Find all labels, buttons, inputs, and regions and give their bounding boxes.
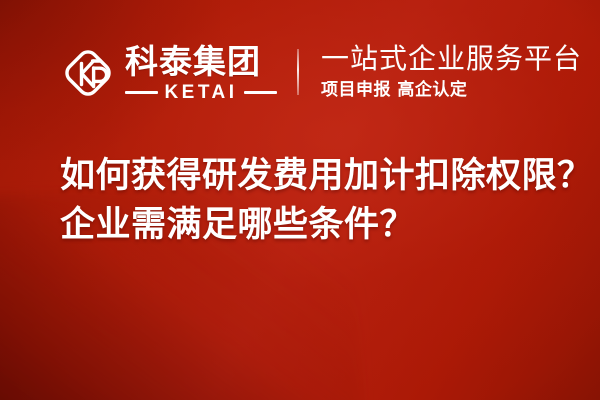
tagline-secondary: 项目申报 高企认定 [321,79,582,101]
headline-line-1: 如何获得研发费用加计扣除权限？ [60,152,570,201]
promo-banner: 科泰集团 KETAI 一站式企业服务平台 项目申报 高企认定 如何获得研发费用加… [0,0,600,400]
brand-name-en-row: KETAI [125,83,277,102]
brand-header: 科泰集团 KETAI 一站式企业服务平台 项目申报 高企认定 [0,34,600,110]
tagline-block: 一站式企业服务平台 项目申报 高企认定 [321,43,582,101]
brand-name-en: KETAI [164,83,237,102]
wordmark-dash-left [125,91,158,94]
tagline-primary: 一站式企业服务平台 [321,43,582,75]
header-divider [297,49,299,95]
brand-wordmark: 科泰集团 KETAI [125,44,277,102]
wordmark-dash-right [244,91,277,94]
headline-line-2: 企业需满足哪些条件？ [60,201,570,250]
headline: 如何获得研发费用加计扣除权限？ 企业需满足哪些条件？ [60,152,570,250]
ketai-logo-icon [62,46,114,100]
brand-name-cn: 科泰集团 [125,44,277,80]
